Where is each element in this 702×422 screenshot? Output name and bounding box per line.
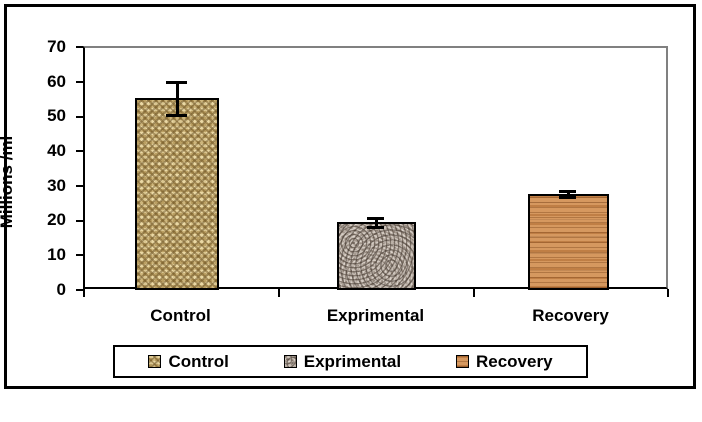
bar-exprimental[interactable] [337,222,416,290]
y-tick-mark-70 [76,46,83,48]
y-tick-label-60: 60 [20,73,66,90]
y-tick-label-40: 40 [20,142,66,159]
legend-swatch-recovery-icon [456,355,469,368]
y-tick-label-0: 0 [20,281,66,298]
legend-entry-control[interactable]: Control [148,352,228,372]
y-tick-mark-20 [76,220,83,222]
error-bar-cap-lower-exprimental [367,226,384,229]
legend-entry-recovery[interactable]: Recovery [456,352,553,372]
x-axis-label-control: Control [83,306,278,325]
legend-label-control: Control [168,352,228,372]
y-tick-mark-10 [76,254,83,256]
y-tick-mark-40 [76,150,83,152]
y-tick-mark-50 [76,116,83,118]
error-bar-cap-upper-control [166,81,187,84]
bar-recovery[interactable] [528,194,609,290]
legend-label-exprimental: Exprimental [304,352,401,372]
y-tick-label-70: 70 [20,38,66,55]
x-axis-label-exprimental: Exprimental [278,306,473,325]
error-bar-cap-upper-exprimental [367,217,384,220]
y-tick-label-30: 30 [20,177,66,194]
legend-entry-exprimental[interactable]: Exprimental [284,352,401,372]
x-tick-mark-0 [83,289,85,297]
y-tick-mark-60 [76,81,83,83]
error-bar-stem-control [176,82,179,115]
x-tick-mark-2 [473,289,475,297]
chart-figure: Millions /ml 70 60 50 40 30 20 10 0 Cont… [0,0,702,422]
y-axis-title: Millions /ml [0,107,17,257]
error-bar-cap-upper-recovery [559,190,576,193]
y-tick-mark-0 [76,289,83,291]
y-tick-label-50: 50 [20,107,66,124]
y-tick-label-20: 20 [20,211,66,228]
bar-control[interactable] [135,98,219,290]
x-tick-mark-1 [278,289,280,297]
x-tick-mark-3 [667,289,669,297]
legend-label-recovery: Recovery [476,352,553,372]
error-bar-cap-lower-control [166,114,187,117]
error-bar-cap-lower-recovery [559,196,576,199]
x-axis-label-recovery: Recovery [473,306,668,325]
y-tick-mark-30 [76,185,83,187]
legend-swatch-control-icon [148,355,161,368]
legend-swatch-exprimental-icon [284,355,297,368]
y-tick-label-10: 10 [20,246,66,263]
chart-legend: Control Exprimental Recovery [113,345,588,378]
